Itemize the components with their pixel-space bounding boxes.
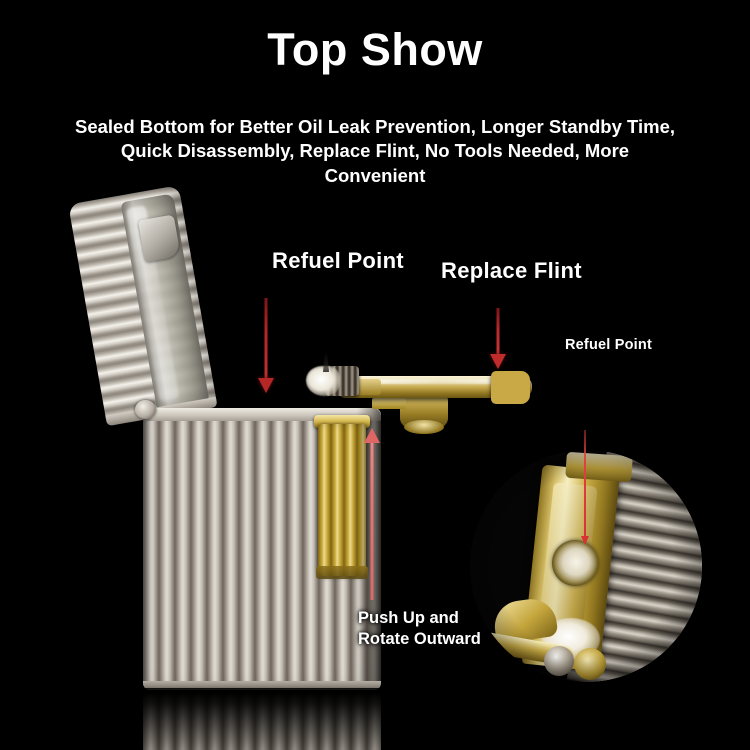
mechanism-pivot-ring [404, 420, 444, 434]
fuel-cylinder [318, 424, 366, 576]
body-left-edge [143, 408, 153, 690]
lighter-cap [62, 183, 229, 427]
wick [306, 366, 340, 396]
arrow-head [258, 378, 274, 393]
push-up-arrow-icon [364, 428, 380, 600]
page-subtitle: Sealed Bottom for Better Oil Leak Preven… [75, 115, 675, 188]
inset-refuel-hole [552, 540, 598, 586]
arrow-shaft [584, 430, 586, 542]
inset-gold-screw [574, 648, 606, 680]
callout-push-up-rotate: Push Up and Rotate Outward [358, 608, 481, 649]
hinge-pin [135, 400, 156, 419]
arrow-shaft [497, 308, 500, 358]
arrow-shaft [265, 298, 268, 382]
inset-top-clip [565, 452, 633, 483]
arrow-head [364, 428, 380, 443]
inset-refuel-arrow-icon [581, 430, 589, 550]
body-reflection [143, 692, 381, 750]
arrow-head [490, 354, 506, 369]
callout-refuel-point-main: Refuel Point [272, 248, 404, 274]
mechanism-stem [372, 398, 406, 409]
callout-refuel-point-inset: Refuel Point [565, 337, 652, 353]
refuel-point-arrow-icon [258, 298, 274, 394]
fuel-cylinder-base [316, 566, 368, 579]
arrow-head [581, 536, 589, 545]
replace-flint-arrow-icon [490, 308, 506, 372]
flint-screw-knob [491, 371, 530, 404]
page-title: Top Show [0, 26, 750, 73]
infographic-canvas: Top Show Sealed Bottom for Better Oil Le… [0, 0, 750, 750]
callout-replace-flint: Replace Flint [441, 258, 582, 284]
inset-silver-screw [544, 646, 574, 676]
arrow-shaft [371, 440, 374, 600]
